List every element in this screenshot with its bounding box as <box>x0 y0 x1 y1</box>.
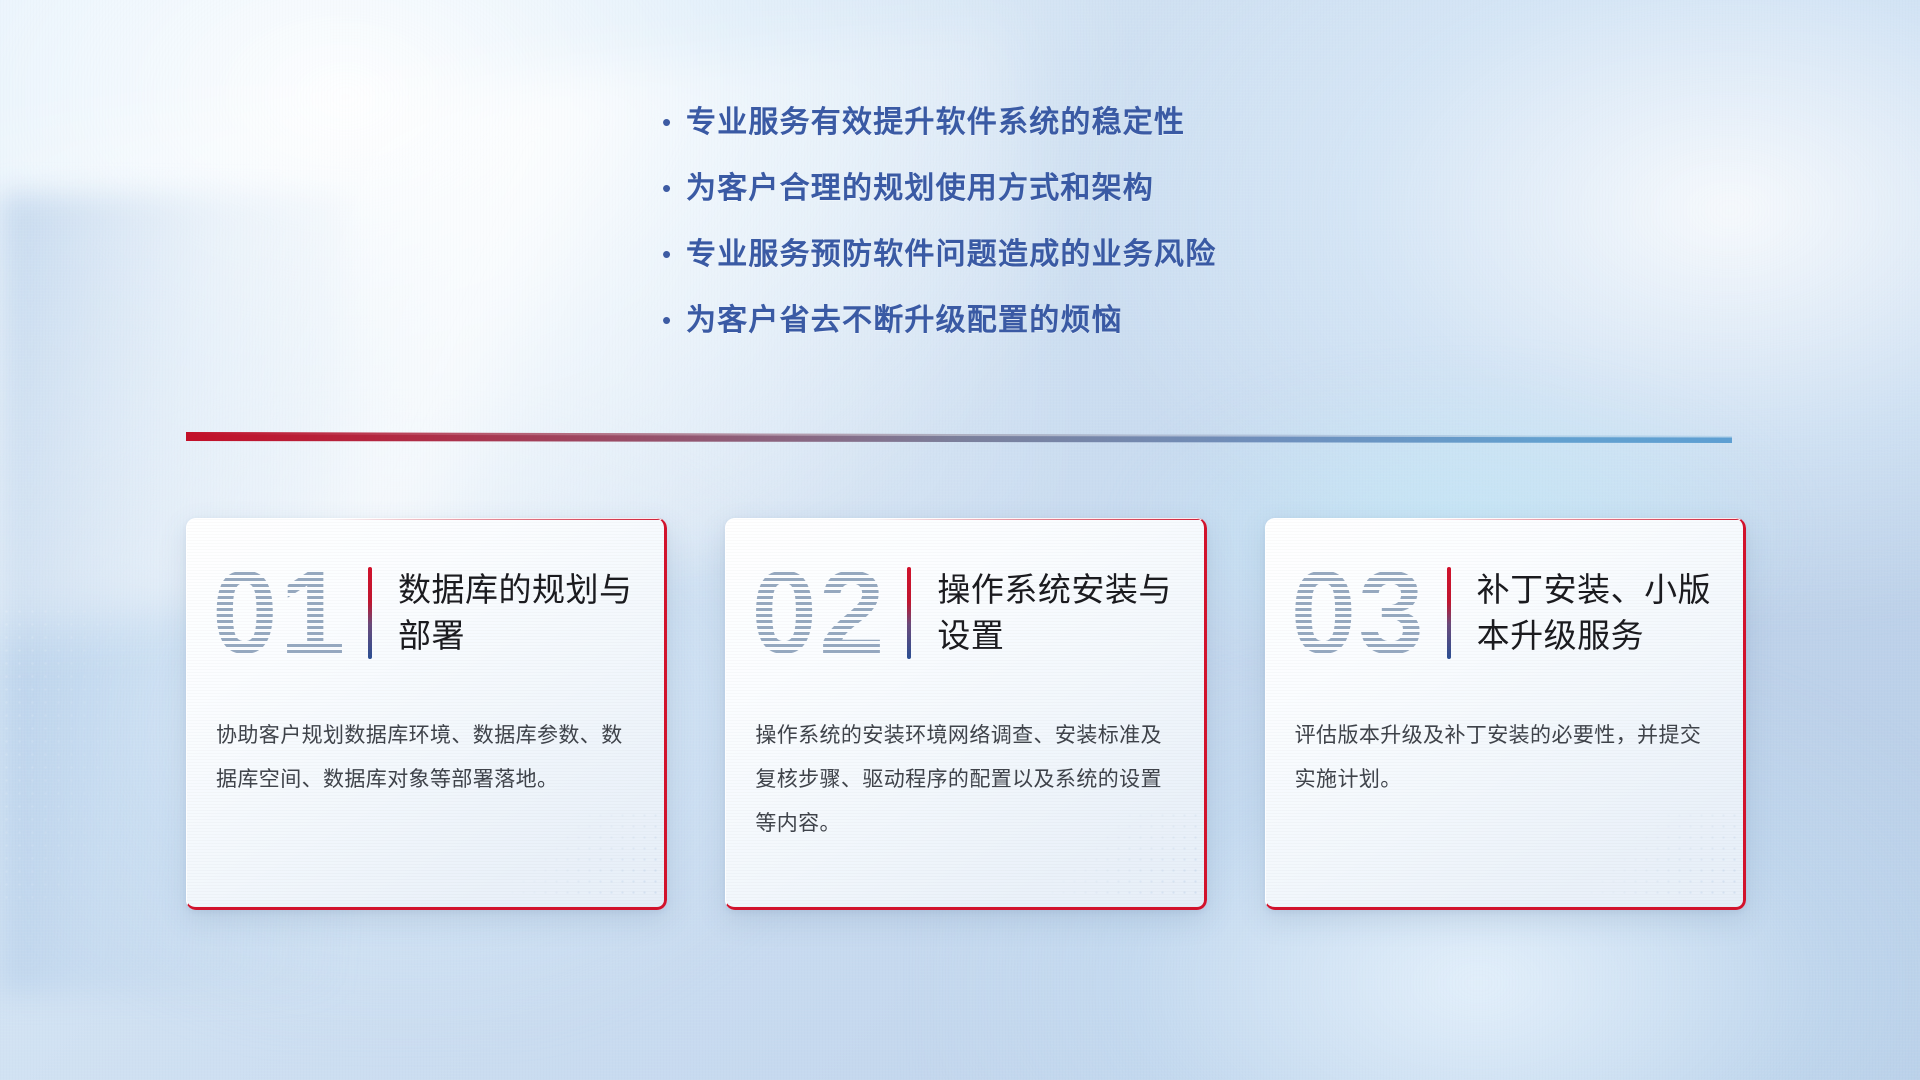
card-body-text: 评估版本升级及补丁安装的必要性，并提交实施计划。 <box>1265 708 1746 802</box>
card-number: 02 <box>751 554 901 672</box>
service-card[interactable]: 01 数据库的规划与部署 协助客户规划数据库环境、数据库参数、数据库空间、数据库… <box>186 518 667 910</box>
card-accent-bar <box>368 567 372 659</box>
card-title: 操作系统安装与设置 <box>937 567 1182 659</box>
gradient-divider-wedge <box>186 430 1732 448</box>
service-card[interactable]: 03 补丁安装、小版本升级服务 评估版本升级及补丁安装的必要性，并提交实施计划。 <box>1265 518 1746 910</box>
service-cards-row: 01 数据库的规划与部署 协助客户规划数据库环境、数据库参数、数据库空间、数据库… <box>186 518 1746 918</box>
service-card[interactable]: 02 操作系统安装与设置 操作系统的安装环境网络调查、安装标准及复核步骤、驱动程… <box>725 518 1206 910</box>
card-header: 03 补丁安装、小版本升级服务 <box>1265 518 1746 708</box>
list-item: • 为客户省去不断升级配置的烦恼 <box>660 303 1420 339</box>
card-number: 01 <box>212 554 362 672</box>
benefits-bullet-list: • 专业服务有效提升软件系统的稳定性 • 为客户合理的规划使用方式和架构 • 专… <box>660 105 1420 369</box>
bullet-point-icon: • <box>660 237 686 271</box>
bullet-point-icon: • <box>660 105 686 139</box>
list-item: • 专业服务有效提升软件系统的稳定性 <box>660 105 1420 141</box>
card-accent-bar <box>907 567 911 659</box>
card-dot-pattern <box>1586 810 1736 900</box>
bullet-point-icon: • <box>660 303 686 337</box>
bullet-text: 为客户省去不断升级配置的烦恼 <box>686 303 1123 339</box>
card-accent-bar <box>1447 567 1451 659</box>
card-body-text: 协助客户规划数据库环境、数据库参数、数据库空间、数据库对象等部署落地。 <box>186 708 667 802</box>
divider-shape-icon <box>186 430 1732 448</box>
card-title: 数据库的规划与部署 <box>398 567 643 659</box>
card-body-text: 操作系统的安装环境网络调查、安装标准及复核步骤、驱动程序的配置以及系统的设置等内… <box>725 708 1206 846</box>
list-item: • 专业服务预防软件问题造成的业务风险 <box>660 237 1420 273</box>
card-header: 02 操作系统安装与设置 <box>725 518 1206 708</box>
bullet-text: 专业服务有效提升软件系统的稳定性 <box>686 105 1185 141</box>
card-number: 03 <box>1291 554 1441 672</box>
bullet-text: 为客户合理的规划使用方式和架构 <box>686 171 1154 207</box>
card-title: 补丁安装、小版本升级服务 <box>1477 567 1722 659</box>
card-header: 01 数据库的规划与部署 <box>186 518 667 708</box>
list-item: • 为客户合理的规划使用方式和架构 <box>660 171 1420 207</box>
bullet-text: 专业服务预防软件问题造成的业务风险 <box>686 237 1216 273</box>
bullet-point-icon: • <box>660 171 686 205</box>
card-dot-pattern <box>507 810 657 900</box>
